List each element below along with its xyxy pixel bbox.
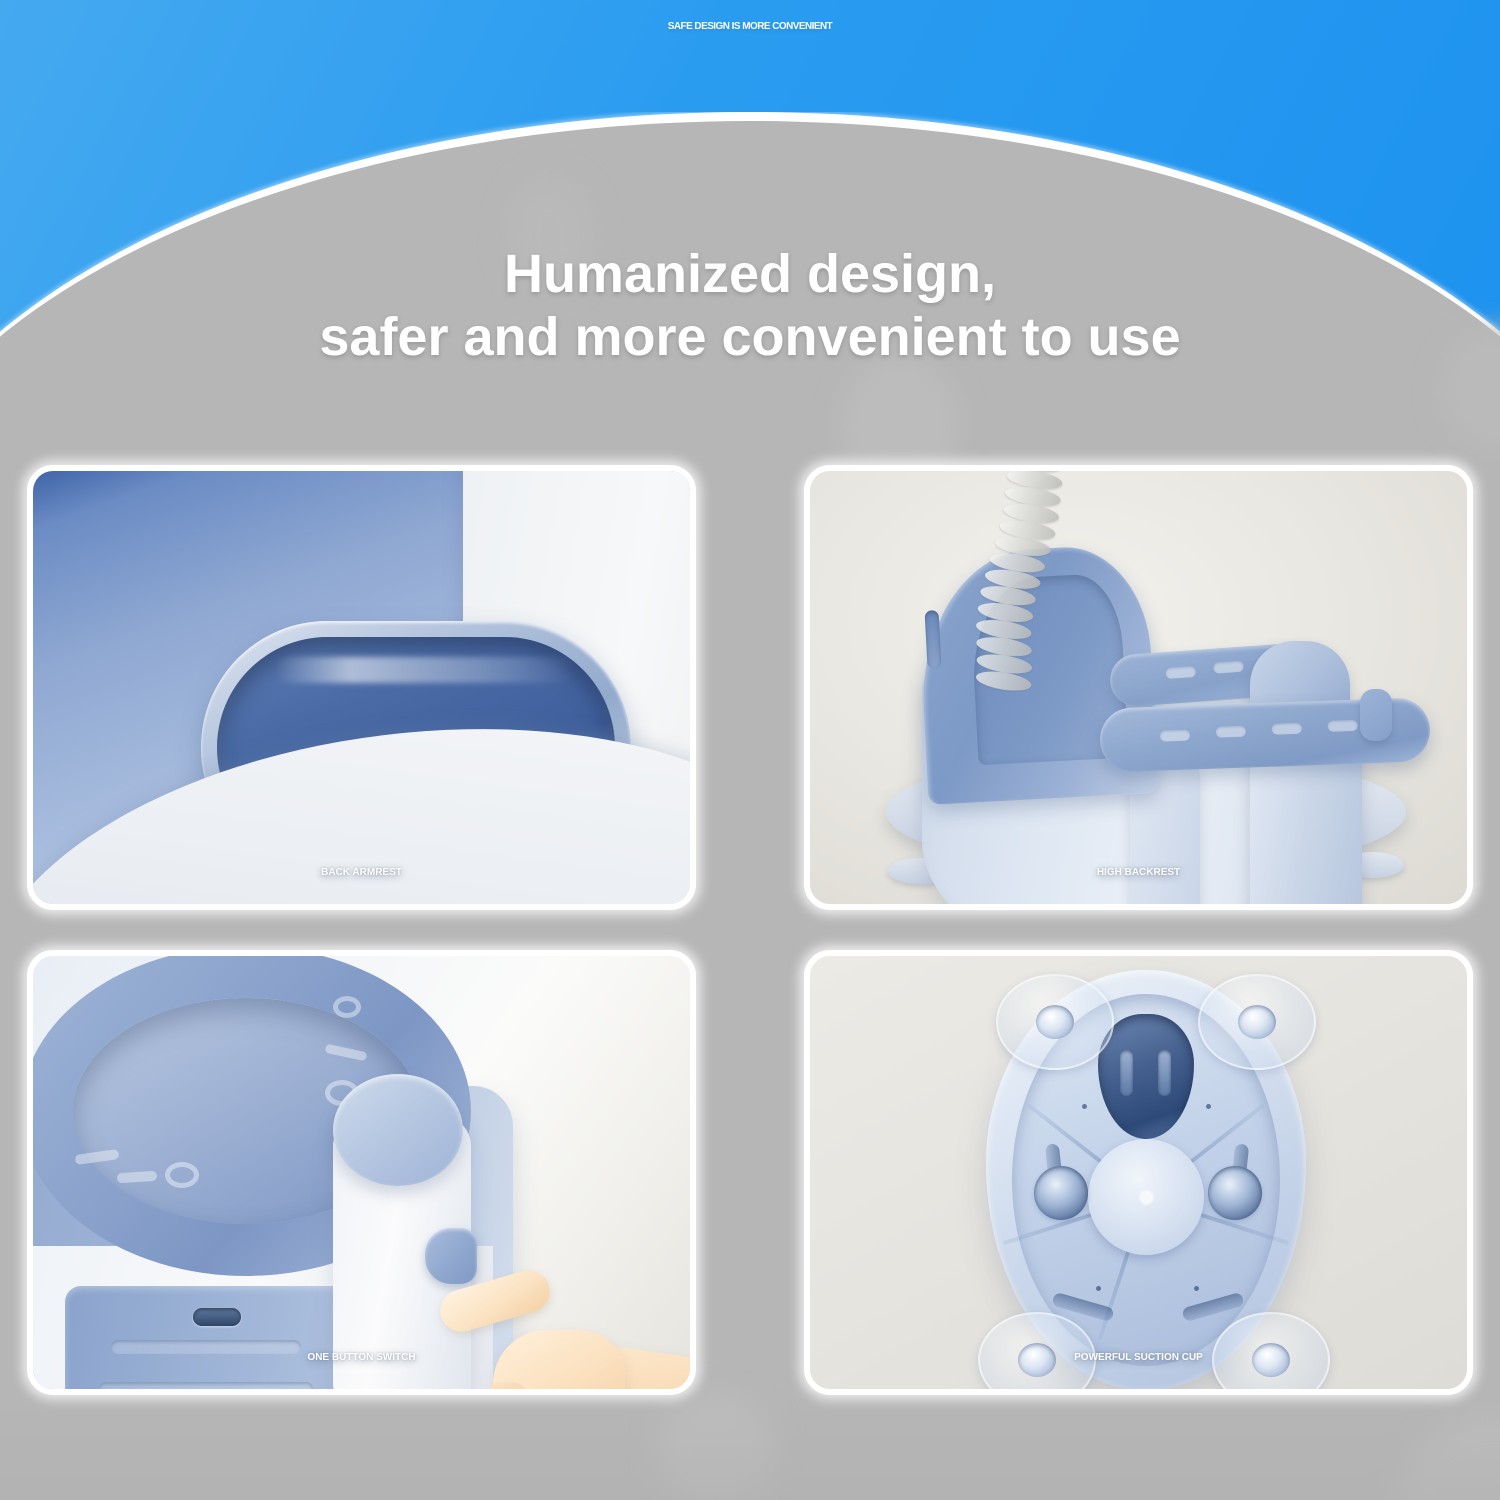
feature-grid: BACK ARMREST xyxy=(27,465,1473,1395)
pointing-hand-illustration xyxy=(453,1246,690,1389)
powerful-suction-cup-photo xyxy=(810,956,1467,1389)
page-title: SAFE DESIGN IS MORE CONVENIENT xyxy=(8,22,1493,32)
feature-panel-back-armrest[interactable]: BACK ARMREST xyxy=(27,465,696,910)
one-button-switch-photo xyxy=(33,956,690,1389)
feature-label-one-button-switch: ONE BUTTON SWITCH xyxy=(33,1353,690,1363)
page-subtitle: Humanized design, safer and more conveni… xyxy=(0,243,1500,369)
feature-label-powerful-suction-cup: POWERFUL SUCTION CUP xyxy=(810,1353,1467,1363)
suction-cup xyxy=(1198,974,1316,1070)
back-armrest-photo xyxy=(33,471,690,904)
suction-cup xyxy=(996,974,1114,1070)
feature-panel-powerful-suction-cup[interactable]: POWERFUL SUCTION CUP xyxy=(804,950,1473,1395)
feature-panel-one-button-switch[interactable]: ONE BUTTON SWITCH xyxy=(27,950,696,1395)
feature-label-high-backrest: HIGH BACKREST xyxy=(810,868,1467,878)
subtitle-line-2: safer and more convenient to use xyxy=(0,306,1500,369)
subtitle-line-1: Humanized design, xyxy=(0,243,1500,306)
product-feature-poster: SAFE DESIGN IS MORE CONVENIENT Humanized… xyxy=(0,0,1500,1500)
feature-label-back-armrest: BACK ARMREST xyxy=(33,868,690,878)
feature-panel-high-backrest[interactable]: HIGH BACKREST xyxy=(804,465,1473,910)
high-backrest-photo xyxy=(810,471,1467,904)
